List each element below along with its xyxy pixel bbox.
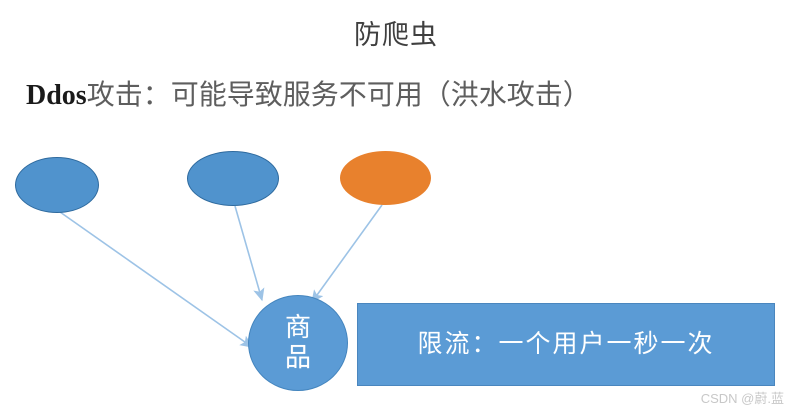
arrow-source-1-to-product <box>60 212 252 347</box>
node-source-1[interactable] <box>15 157 99 213</box>
node-target-product[interactable]: 商品 <box>248 295 348 391</box>
rate-limit-callout[interactable]: 限流：一个用户一秒一次 <box>357 303 775 386</box>
arrow-source-2-to-product <box>235 206 262 300</box>
rate-limit-callout-label: 限流：一个用户一秒一次 <box>417 330 714 360</box>
node-target-product-label: 商品 <box>285 313 311 373</box>
node-source-2[interactable] <box>187 151 279 206</box>
slide-canvas: 防爬虫 Ddos攻击：可能导致服务不可用（洪水攻击） 商品 限流：一个用户一秒一… <box>0 0 792 410</box>
arrow-source-3-to-product <box>312 205 382 302</box>
node-source-3[interactable] <box>340 151 431 205</box>
